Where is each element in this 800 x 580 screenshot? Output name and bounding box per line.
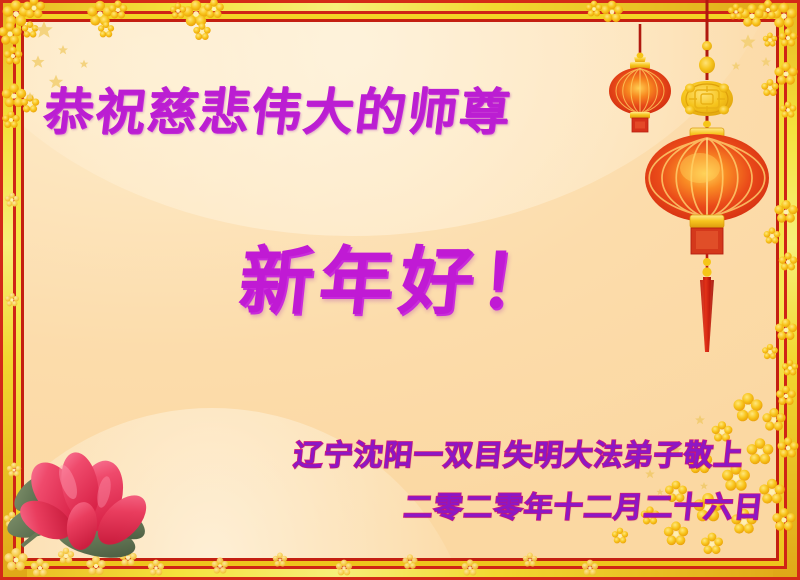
greeting-card: 恭祝慈悲伟大的师尊 新年好！ 辽宁沈阳一双目失明大法弟子敬上 二零二零年十二月二… <box>0 0 800 580</box>
signature-line: 辽宁沈阳一双目失明大法弟子敬上 <box>292 432 746 474</box>
greeting-line: 新年好！ <box>0 222 800 329</box>
date-line: 二零二零年十二月二十六日 <box>402 484 766 526</box>
blessing-line: 恭祝慈悲伟大的师尊 <box>40 72 517 144</box>
card-text: 恭祝慈悲伟大的师尊 新年好！ 辽宁沈阳一双目失明大法弟子敬上 二零二零年十二月二… <box>0 0 800 580</box>
